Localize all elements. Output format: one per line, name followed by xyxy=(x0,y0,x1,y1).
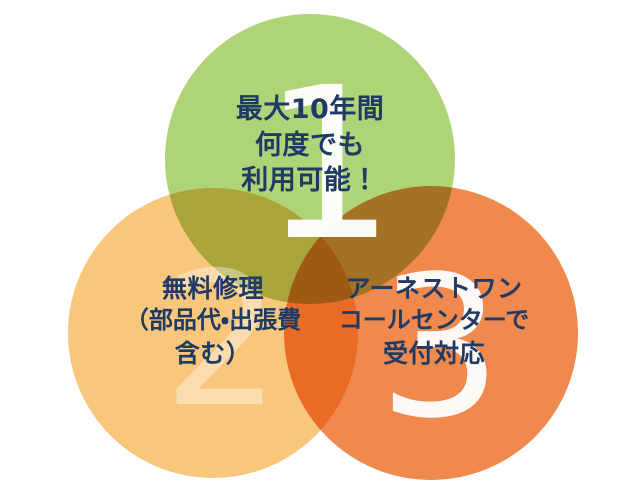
venn-label-green-line-3: 利用可能！ xyxy=(180,163,440,199)
venn-label-green-line-2: 何度でも xyxy=(180,128,440,164)
venn-label-orange-line-1: アーネストワン xyxy=(300,272,568,305)
venn-label-orange: アーネストワン コールセンターで 受付対応 xyxy=(300,272,568,370)
venn-label-green-line-1: 最大10年間 xyxy=(180,92,440,128)
venn-label-green: 最大10年間 何度でも 利用可能！ xyxy=(180,92,440,199)
venn-diagram: 1 2 3 最大10年間 何度でも 利用可能！ 無料修理 （部品代・出張費 含む… xyxy=(0,0,620,495)
venn-label-orange-line-2: コールセンターで xyxy=(300,305,568,337)
venn-label-orange-line-3: 受付対応 xyxy=(300,337,568,370)
